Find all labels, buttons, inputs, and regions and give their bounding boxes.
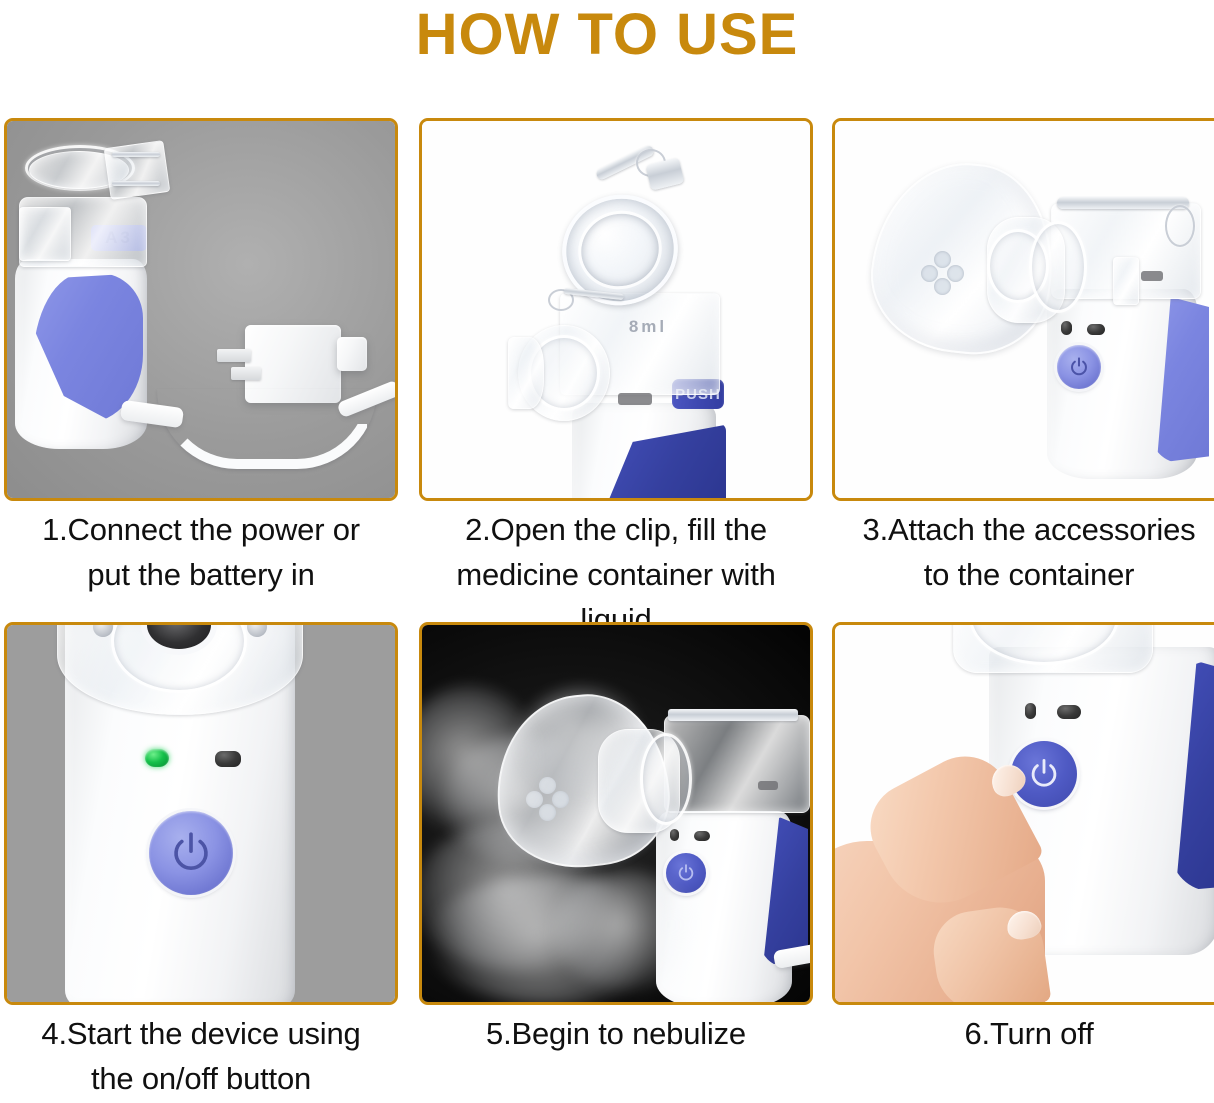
lid-clip-open xyxy=(104,140,171,200)
step-1-photo: A3 xyxy=(7,121,395,498)
step-4-caption-line2: the on/off button xyxy=(4,1056,398,1101)
step-card-3: 3.Attach the accessories to the containe… xyxy=(832,118,1214,620)
step-3-caption-line1: 3.Attach the accessories xyxy=(863,512,1196,547)
steps-row-top: A3 xyxy=(0,118,1214,620)
step-4-frame xyxy=(4,622,398,1005)
adapter-usb-port xyxy=(337,337,367,371)
indicator-led-left xyxy=(670,829,679,841)
status-led-dark xyxy=(215,751,241,767)
step-3-frame xyxy=(832,118,1214,501)
step-2-photo: PUSH 8ml xyxy=(422,121,810,498)
step-3-caption-line2: to the container xyxy=(832,552,1214,597)
step-4-caption-line1: 4.Start the device using xyxy=(41,1016,360,1051)
container-window-slot xyxy=(758,781,778,790)
power-icon xyxy=(1057,345,1101,389)
power-button[interactable] xyxy=(149,811,233,895)
step-card-4: 4.Start the device using the on/off butt… xyxy=(4,622,398,1103)
page-title: HOW TO USE xyxy=(0,2,1214,68)
indicator-led-right xyxy=(694,831,710,841)
indicator-led-right xyxy=(1057,705,1081,719)
petal-top xyxy=(934,251,951,268)
power-button[interactable] xyxy=(1057,345,1101,389)
tank-engraving: 8ml xyxy=(618,317,678,337)
lid-inner-ring xyxy=(569,201,671,299)
step-5-caption-line1: 5.Begin to nebulize xyxy=(486,1016,746,1051)
clasp-icon xyxy=(112,152,160,157)
step-1-caption: 1.Connect the power or put the battery i… xyxy=(4,507,398,597)
step-2-frame: PUSH 8ml xyxy=(419,118,813,501)
container-side-window xyxy=(19,207,71,261)
step-1-frame: A3 xyxy=(4,118,398,501)
power-icon xyxy=(149,811,233,895)
adapter-prong-lower xyxy=(231,367,261,380)
how-to-use-infographic: HOW TO USE A3 xyxy=(0,0,1214,1103)
indicator-led-left xyxy=(1061,321,1072,335)
step-card-6: 6.Turn off xyxy=(832,622,1214,1103)
step-5-caption: 5.Begin to nebulize xyxy=(419,1011,813,1056)
step-6-caption-line1: 6.Turn off xyxy=(965,1016,1094,1051)
step-5-frame xyxy=(419,622,813,1005)
mask-connector-ring xyxy=(1029,221,1087,313)
nozzle xyxy=(1113,257,1139,305)
adapter-prong-upper xyxy=(217,349,251,362)
mist-puff-6 xyxy=(552,871,702,991)
step-6-caption: 6.Turn off xyxy=(832,1011,1214,1056)
mask-connector-ring xyxy=(640,733,692,825)
mask-vent-petals xyxy=(921,251,965,295)
step-1-caption-line2: put the battery in xyxy=(4,552,398,597)
petal-left xyxy=(921,265,938,282)
step-5-photo xyxy=(422,625,810,1002)
indicator-led-right xyxy=(1087,324,1105,335)
container-clasp xyxy=(668,709,798,721)
step-1-caption-line1: 1.Connect the power or xyxy=(42,512,360,547)
step-6-photo xyxy=(835,625,1214,1002)
clasp-lower-icon xyxy=(112,181,160,186)
step-card-2: PUSH 8ml xyxy=(419,118,813,620)
step-card-5: 5.Begin to nebulize xyxy=(419,622,813,1103)
step-3-caption: 3.Attach the accessories to the containe… xyxy=(832,507,1214,597)
step-card-1: A3 xyxy=(4,118,398,620)
indicator-led-left xyxy=(1025,703,1036,719)
step-6-frame xyxy=(832,622,1214,1005)
clasp-wire-loop xyxy=(1165,205,1195,247)
step-4-caption: 4.Start the device using the on/off butt… xyxy=(4,1011,398,1101)
step-4-photo xyxy=(7,625,395,1002)
petal-bottom xyxy=(934,278,951,295)
container-clasp xyxy=(1057,197,1189,209)
status-led-green xyxy=(145,749,169,767)
steps-grid: A3 xyxy=(0,118,1214,1103)
tank-window-slot xyxy=(618,393,652,405)
steps-row-bottom: 4.Start the device using the on/off butt… xyxy=(0,622,1214,1103)
step-2-caption-line1: 2.Open the clip, fill the xyxy=(465,512,767,547)
petal-right xyxy=(947,265,964,282)
mouthpiece-stub xyxy=(508,337,544,409)
step-3-photo xyxy=(835,121,1214,498)
container-window-slot xyxy=(1141,271,1163,281)
